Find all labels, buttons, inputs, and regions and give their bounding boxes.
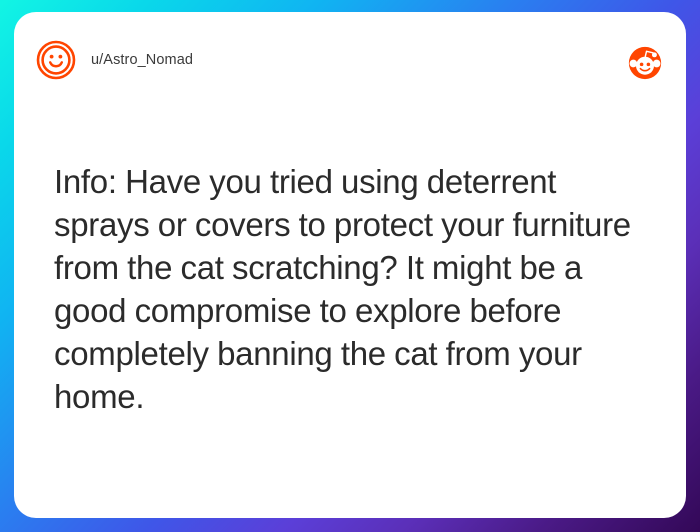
reddit-snoo-logo-icon[interactable] (628, 46, 662, 80)
avatar[interactable] (36, 40, 76, 80)
post-author-username[interactable]: u/Astro_Nomad (91, 52, 193, 68)
post-header: u/Astro_Nomad (14, 12, 686, 108)
reddit-post-card: u/Astro_Nomad Info: Have you tried using… (14, 12, 686, 518)
post-body: Info: Have you tried using deterrent spr… (14, 108, 686, 518)
post-text: Info: Have you tried using deterrent spr… (54, 160, 646, 418)
screenshot-root: u/Astro_Nomad Info: Have you tried using… (0, 0, 700, 532)
smiley-face-avatar-icon (36, 40, 76, 80)
